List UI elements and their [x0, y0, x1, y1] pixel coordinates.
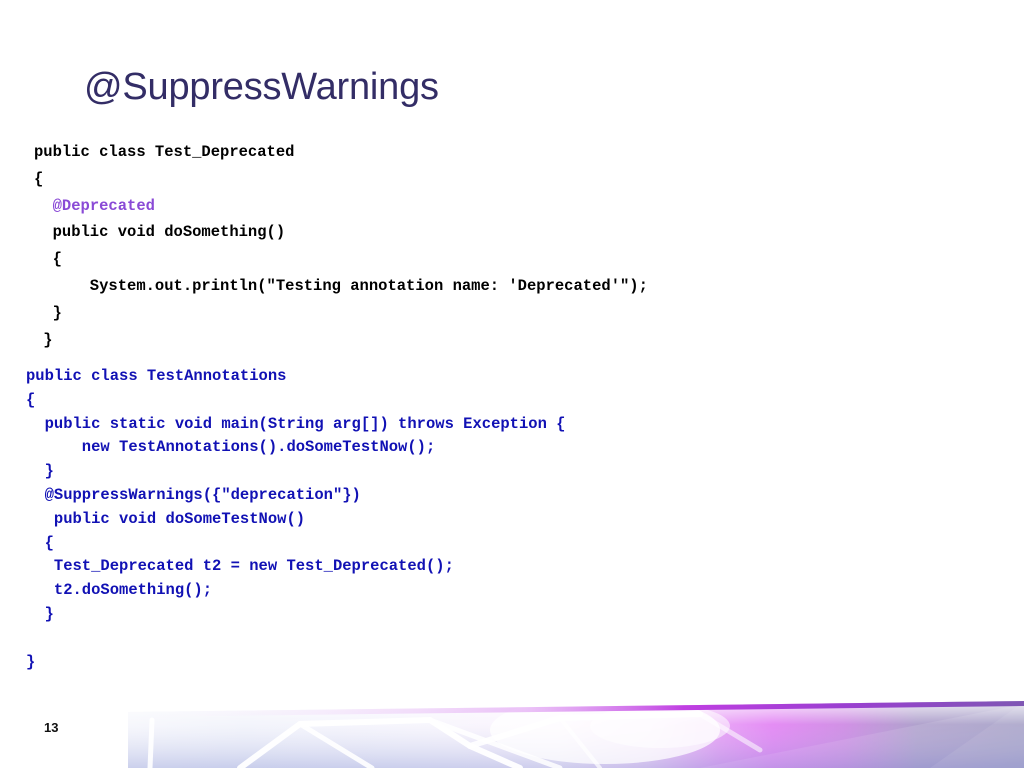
code-line: } [26, 651, 566, 675]
code-line: Test_Deprecated t2 = new Test_Deprecated… [26, 555, 566, 579]
page-title: @SuppressWarnings [84, 66, 439, 109]
code-line: @SuppressWarnings({"deprecation"}) [26, 484, 566, 508]
code-block-test-deprecated: public class Test_Deprecated{ @Deprecate… [34, 139, 648, 353]
code-line: public class TestAnnotations [26, 365, 566, 389]
code-line: { [26, 389, 566, 413]
code-line: public void doSomething() [34, 219, 648, 246]
code-line: public void doSomeTestNow() [26, 508, 566, 532]
code-line: t2.doSomething(); [26, 579, 566, 603]
code-line: System.out.println("Testing annotation n… [34, 273, 648, 300]
footer-banner-graphic [0, 690, 1024, 768]
code-line: } [34, 327, 648, 354]
code-annotation: @Deprecated [53, 197, 155, 215]
footer-decoration [0, 690, 1024, 768]
code-line: } [26, 603, 566, 627]
code-line: } [34, 300, 648, 327]
code-line [26, 627, 566, 651]
code-line: public class Test_Deprecated [34, 139, 648, 166]
code-line: public static void main(String arg[]) th… [26, 413, 566, 437]
slide-canvas: @SuppressWarnings public class Test_Depr… [0, 0, 1024, 768]
slide-number: 13 [44, 721, 58, 734]
code-line: { [26, 532, 566, 556]
code-line: { [34, 246, 648, 273]
code-line: } [26, 460, 566, 484]
code-line: new TestAnnotations().doSomeTestNow(); [26, 436, 566, 460]
code-block-test-annotations: public class TestAnnotations{ public sta… [26, 365, 566, 674]
code-line: { [34, 166, 648, 193]
code-line: @Deprecated [34, 193, 648, 220]
